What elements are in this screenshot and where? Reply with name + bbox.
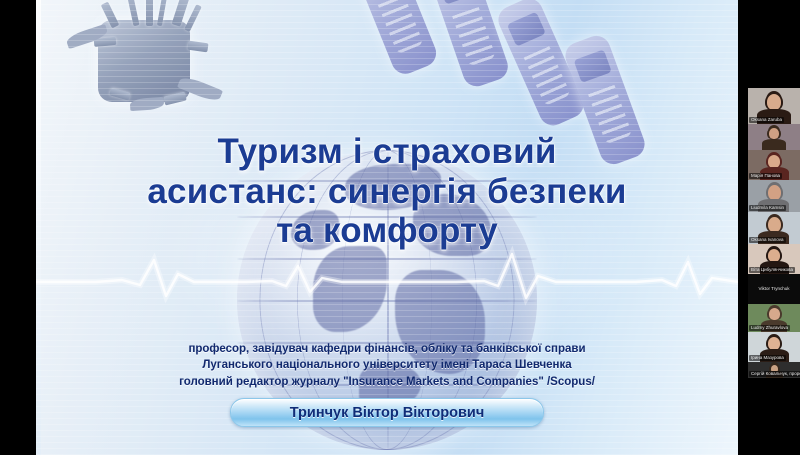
participant-tile[interactable]: Viktor Trynchuk — [748, 274, 800, 304]
presenter-name-label: Тринчук Віктор Вікторович — [290, 405, 485, 421]
travel-collage-image — [60, 0, 240, 131]
participant-tile[interactable]: Ірина Мазурова — [748, 332, 800, 362]
person-head-shape — [768, 217, 781, 232]
participant-video-rail[interactable]: Oksana ZarubaМарія ПановаLiudmila Kamsin… — [748, 0, 800, 455]
slide-title-line-2: асистанс: синергія безпеки — [36, 172, 738, 212]
person-head-shape — [769, 128, 779, 139]
participant-tile[interactable]: Liudmila Kamsin — [748, 180, 800, 212]
participant-tile[interactable]: Ludmy Zhuravlova — [748, 304, 800, 332]
participant-name-label: Ірина Мазурова — [749, 355, 786, 362]
slide-title-line-3: та комфорту — [36, 211, 738, 251]
participant-name-label: Віта Цибулянчикова — [749, 267, 795, 274]
slide-title-line-1: Туризм і страховий — [36, 132, 738, 172]
slide-subtitle-line-3: головний редактор журналу "Insurance Mar… — [36, 374, 738, 390]
participant-name-label: Oksana Ivanova — [749, 237, 786, 244]
participant-name-label: Viktor Trynchuk — [757, 286, 792, 293]
presenter-name-banner: Тринчук Віктор Вікторович — [230, 398, 544, 427]
participant-name-label: Liudmila Kamsin — [749, 205, 786, 212]
slide-subtitle: професор, завідувач кафедри фінансів, об… — [36, 341, 738, 390]
slide-title: Туризм і страховий асистанс: синергія бе… — [36, 132, 738, 251]
slide-subtitle-line-2: Луганського національного університету і… — [36, 357, 738, 373]
participant-name-label: Ludmy Zhuravlova — [749, 325, 790, 332]
participant-tile[interactable] — [748, 124, 800, 150]
participant-tile[interactable]: Сергій Ковальчук, проректор — [748, 362, 800, 378]
slide-subtitle-line-1: професор, завідувач кафедри фінансів, об… — [36, 341, 738, 357]
person-head-shape — [768, 185, 781, 200]
participant-name-label: Марія Панова — [749, 173, 782, 180]
meeting-screen: Туризм і страховий асистанс: синергія бе… — [0, 0, 800, 455]
participant-tile[interactable]: Віта Цибулянчикова — [748, 244, 800, 274]
person-head-shape — [767, 94, 781, 110]
participant-tile[interactable]: Oksana Ivanova — [748, 212, 800, 244]
participant-tile[interactable]: Oksana Zaruba — [748, 88, 800, 124]
participant-tile[interactable]: Марія Панова — [748, 150, 800, 180]
mobile-phones-image — [368, 0, 668, 120]
person-body-shape — [762, 139, 786, 150]
participant-name-label: Oksana Zaruba — [749, 117, 784, 124]
person-head-shape — [769, 308, 780, 320]
participant-video — [748, 124, 800, 150]
shared-slide: Туризм і страховий асистанс: синергія бе… — [36, 0, 738, 455]
participant-name-label: Сергій Ковальчук, проректор — [749, 371, 800, 378]
